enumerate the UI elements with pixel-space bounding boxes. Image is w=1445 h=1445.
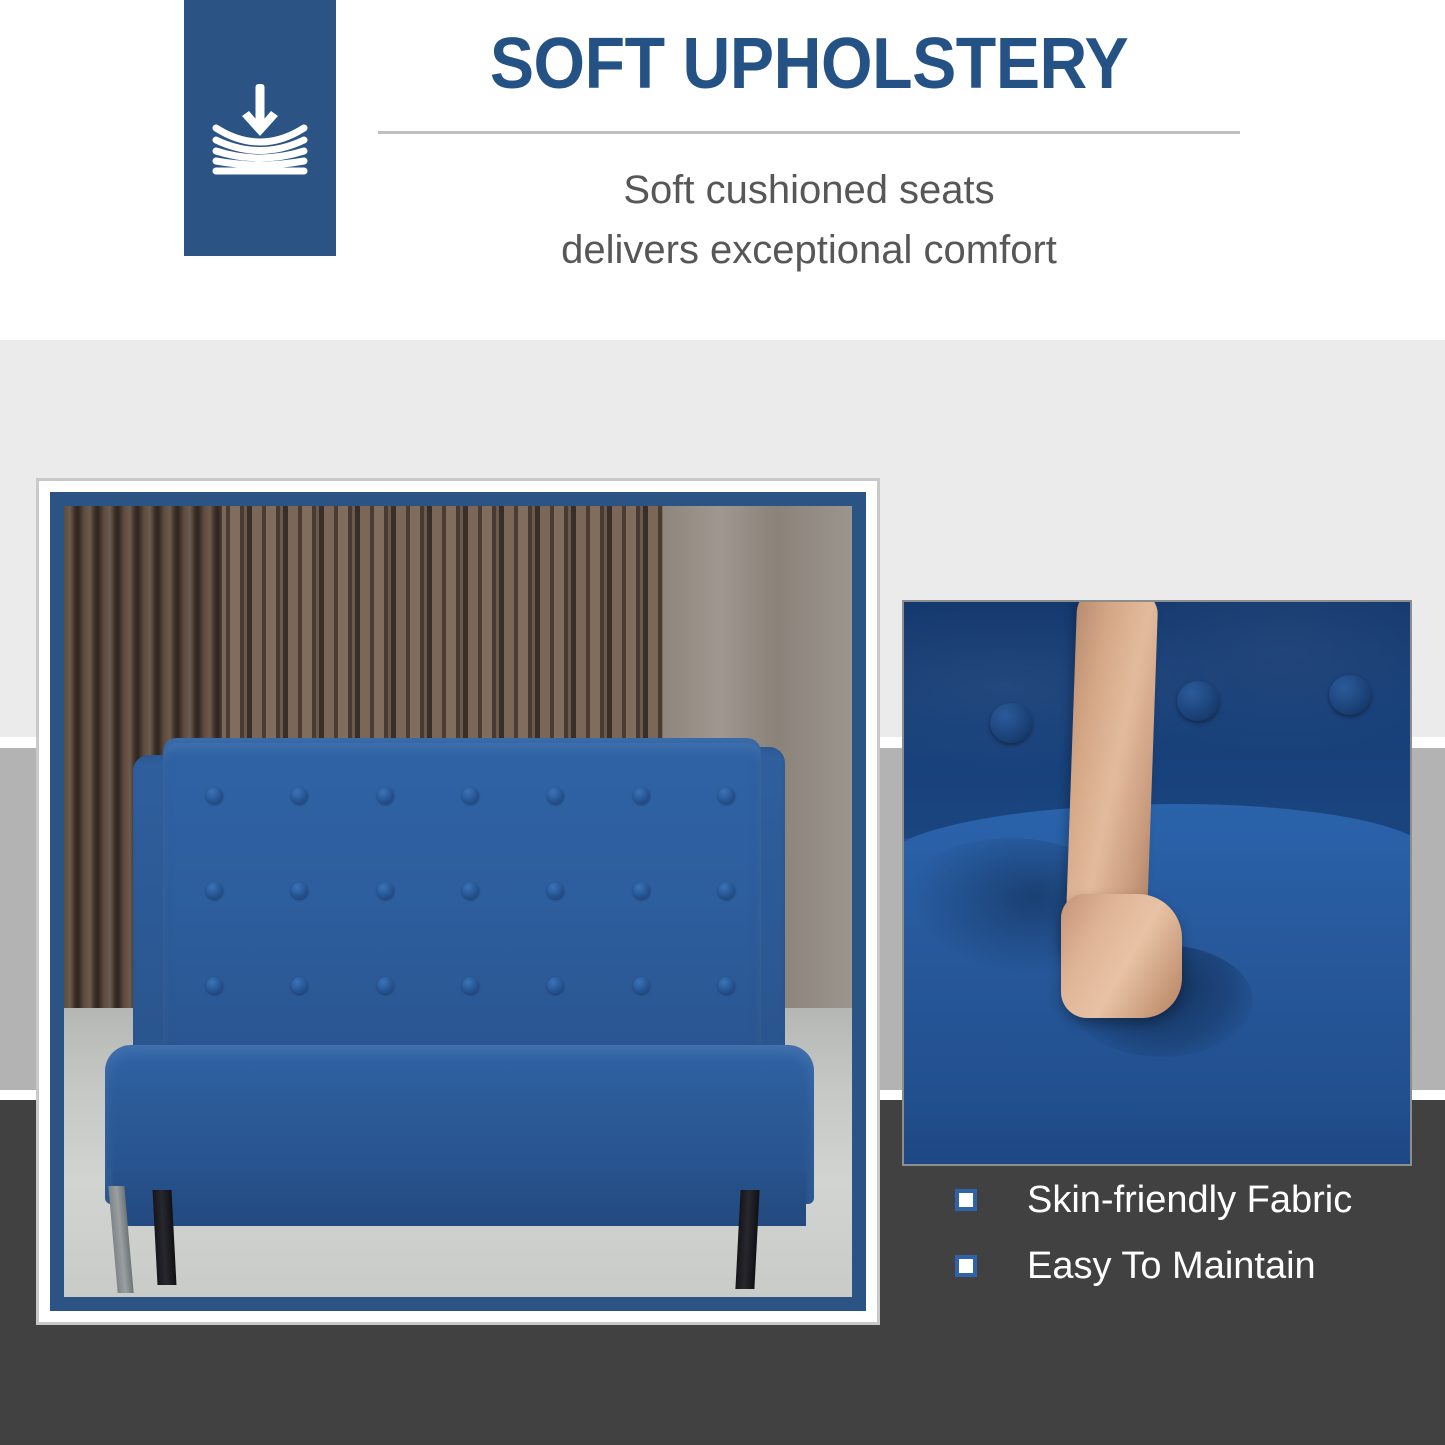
sofa-tuft-button <box>291 787 308 804</box>
product-feature-banner: SOFT UPHOLSTERY Soft cushioned seats del… <box>0 0 1445 1445</box>
sofa-front-apron <box>113 1170 806 1225</box>
list-item: Skin-friendly Fabric <box>955 1178 1425 1222</box>
sofa-tuft-button <box>206 787 223 804</box>
square-bullet-icon <box>955 1255 977 1277</box>
sofa-tuft-button <box>377 977 394 994</box>
page-title: SOFT UPHOLSTERY <box>412 22 1205 106</box>
sofa-tuft-button <box>206 977 223 994</box>
square-bullet-icon <box>955 1189 977 1211</box>
title-divider <box>378 131 1240 134</box>
inset-tuft-button-1 <box>990 703 1032 743</box>
main-product-photo-frame <box>36 478 880 1325</box>
sofa-tuft-button <box>291 977 308 994</box>
sofa-tuft-button <box>462 882 479 899</box>
subtitle-line-1: Soft cushioned seats <box>378 160 1240 220</box>
subtitle-line-2: delivers exceptional comfort <box>378 220 1240 280</box>
sofa-tuft-button <box>718 787 735 804</box>
inset-fist <box>1061 894 1182 1018</box>
main-product-photo <box>64 506 852 1297</box>
inset-tuft-button-2 <box>1177 681 1219 721</box>
header-section: SOFT UPHOLSTERY Soft cushioned seats del… <box>0 0 1445 340</box>
sofa-tuft-button <box>377 787 394 804</box>
sofa-tuft-button <box>462 787 479 804</box>
inset-tuft-button-3 <box>1329 675 1371 715</box>
sofa-tuft-button <box>718 882 735 899</box>
sofa-tuft-button <box>462 977 479 994</box>
feature-label: Easy To Maintain <box>1027 1244 1316 1288</box>
sofa-tuft-button <box>633 787 650 804</box>
cushion-press-arrow-icon <box>200 68 320 188</box>
cushion-closeup-photo <box>902 600 1412 1166</box>
feature-list: Skin-friendly Fabric Easy To Maintain <box>955 1178 1425 1310</box>
main-photo-accent-border <box>50 492 866 1311</box>
sofa-tuft-button <box>377 882 394 899</box>
sofa-tuft-button <box>291 882 308 899</box>
inset-fabric-texture <box>904 602 1410 838</box>
sofa-tuft-button <box>547 787 564 804</box>
sofa-tuft-button <box>547 977 564 994</box>
sofa-tuft-button <box>718 977 735 994</box>
feature-label: Skin-friendly Fabric <box>1027 1178 1352 1222</box>
subtitle: Soft cushioned seats delivers exceptiona… <box>378 160 1240 280</box>
sofa-tuft-button <box>547 882 564 899</box>
sofa-tuft-button <box>206 882 223 899</box>
feature-icon-panel <box>184 0 336 256</box>
sofa-tuft-button <box>633 882 650 899</box>
list-item: Easy To Maintain <box>955 1244 1425 1288</box>
sofa-tuft-button <box>633 977 650 994</box>
